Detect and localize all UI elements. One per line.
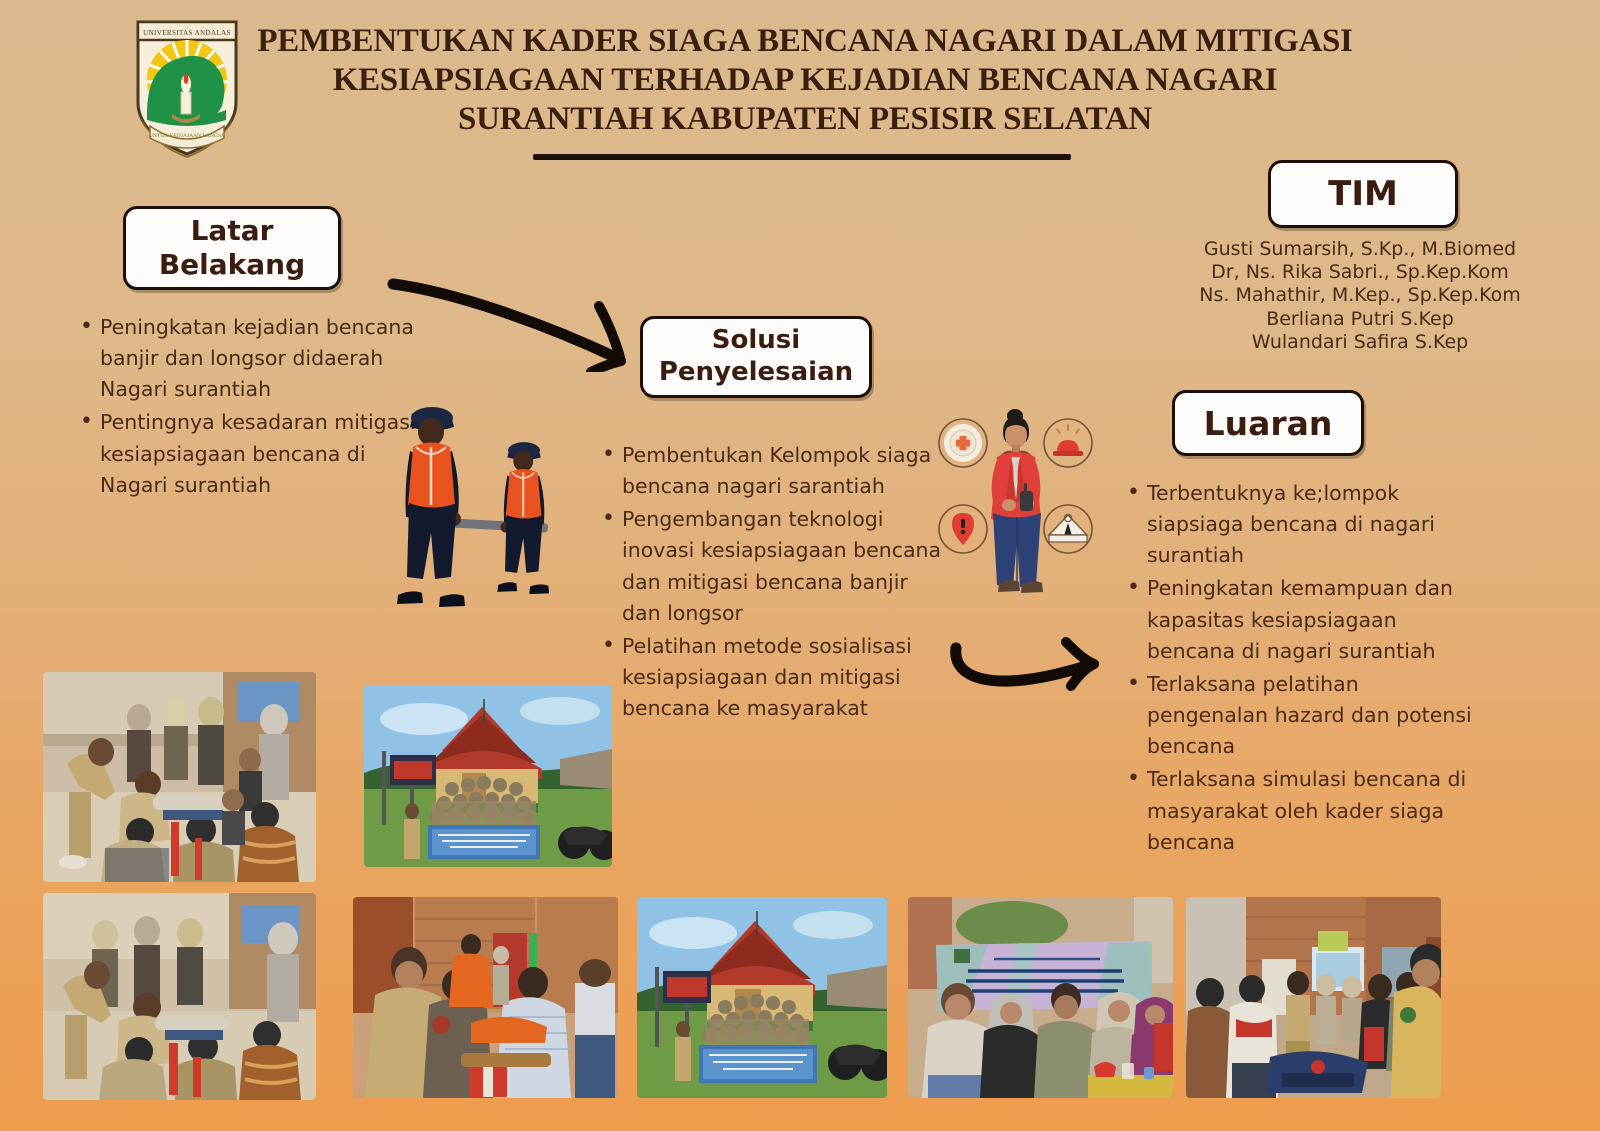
list-item: Terlaksana pelatihan pengenalan hazard d… [1125, 669, 1485, 762]
photo-team-banner [908, 897, 1173, 1098]
disaster-volunteer-illustration [925, 395, 1105, 595]
list-item: Pentingnya kesadaran mitigasi kesiapsiag… [78, 407, 423, 500]
solusi-label-line2: Penyelesaian [659, 357, 853, 389]
page-title: PEMBENTUKAN KADER SIAGA BENCANA NAGARI D… [250, 22, 1360, 139]
svg-text:UNIVERSITAS ANDALAS: UNIVERSITAS ANDALAS [143, 29, 231, 37]
universitas-andalas-logo: UNIVERSITAS ANDALAS [128, 6, 246, 158]
latar-belakang-list: Peningkatan kejadian bencana banjir dan … [78, 312, 423, 503]
list-item: Terbentuknya ke;lompok siapsiaga bencana… [1125, 478, 1485, 571]
tim-member: Gusti Sumarsih, S.Kp., M.Biomed [1160, 238, 1560, 261]
solusi-label-line1: Solusi [659, 325, 853, 357]
tim-member-list: Gusti Sumarsih, S.Kp., M.Biomed Dr, Ns. … [1160, 238, 1560, 354]
section-label-tim: TIM [1268, 160, 1458, 228]
photo-simulation-training-indoor [43, 672, 316, 882]
medical-cross-icon [939, 419, 987, 467]
list-item: Peningkatan kejadian bencana banjir dan … [78, 312, 423, 405]
siren-alarm-icon [1044, 419, 1092, 467]
poster-canvas: UNIVERSITAS ANDALAS [0, 0, 1600, 1131]
title-divider [533, 154, 1071, 160]
title-line-3: SURANTIAH KABUPATEN PESISIR SELATAN [250, 100, 1360, 139]
list-item: Pembentukan Kelompok siaga bencana nagar… [600, 440, 945, 502]
poster-header: UNIVERSITAS ANDALAS [0, 0, 1600, 150]
section-label-luaran: Luaran [1172, 390, 1364, 456]
luaran-label: Luaran [1204, 404, 1333, 443]
arrow-latar-to-solusi-icon [385, 262, 645, 372]
latar-label-line1: Latar [159, 214, 305, 248]
photo-indoor-presentation [1186, 897, 1441, 1098]
latar-label-line2: Belakang [159, 248, 305, 282]
list-item: Peningkatan kemampuan dan kapasitas kesi… [1125, 573, 1485, 666]
arrow-solusi-to-luaran-icon [918, 618, 1118, 708]
title-line-2: KESIAPSIAGAAN TERHADAP KEJADIAN BENCANA … [250, 61, 1360, 100]
section-label-solusi-penyelesaian: Solusi Penyelesaian [640, 316, 872, 398]
photo-equipment-training-outdoor [353, 897, 618, 1098]
tim-member: Ns. Mahathir, M.Kep., Sp.Kep.Kom [1160, 284, 1560, 307]
tim-member: Dr, Ns. Rika Sabri., Sp.Kep.Kom [1160, 261, 1560, 284]
solusi-penyelesaian-list: Pembentukan Kelompok siaga bencana nagar… [600, 440, 945, 726]
tim-member: Berliana Putri S.Kep [1160, 308, 1560, 331]
stretcher-rescue-illustration [382, 395, 582, 625]
svg-text:UNTUK KEDJAJAAN BANGSA: UNTUK KEDJAJAAN BANGSA [149, 133, 225, 139]
title-line-1: PEMBENTUKAN KADER SIAGA BENCANA NAGARI D… [250, 22, 1360, 61]
section-label-latar-belakang: Latar Belakang [123, 206, 341, 290]
location-pin-alert-icon [939, 505, 987, 553]
shelter-tent-icon [1044, 505, 1092, 553]
tim-member: Wulandari Safira S.Kep [1160, 331, 1560, 354]
tim-label: TIM [1328, 174, 1398, 214]
photo-group-traditional-house-2 [637, 897, 887, 1098]
luaran-list: Terbentuknya ke;lompok siapsiaga bencana… [1125, 478, 1485, 860]
list-item: Terlaksana simulasi bencana di masyaraka… [1125, 764, 1485, 857]
photo-group-traditional-house-1 [364, 685, 612, 867]
list-item: Pelatihan metode sosialisasi kesiapsiaga… [600, 631, 945, 724]
photo-simulation-training-indoor-2 [43, 893, 316, 1100]
list-item: Pengembangan teknologi inovasi kesiapsia… [600, 504, 945, 629]
